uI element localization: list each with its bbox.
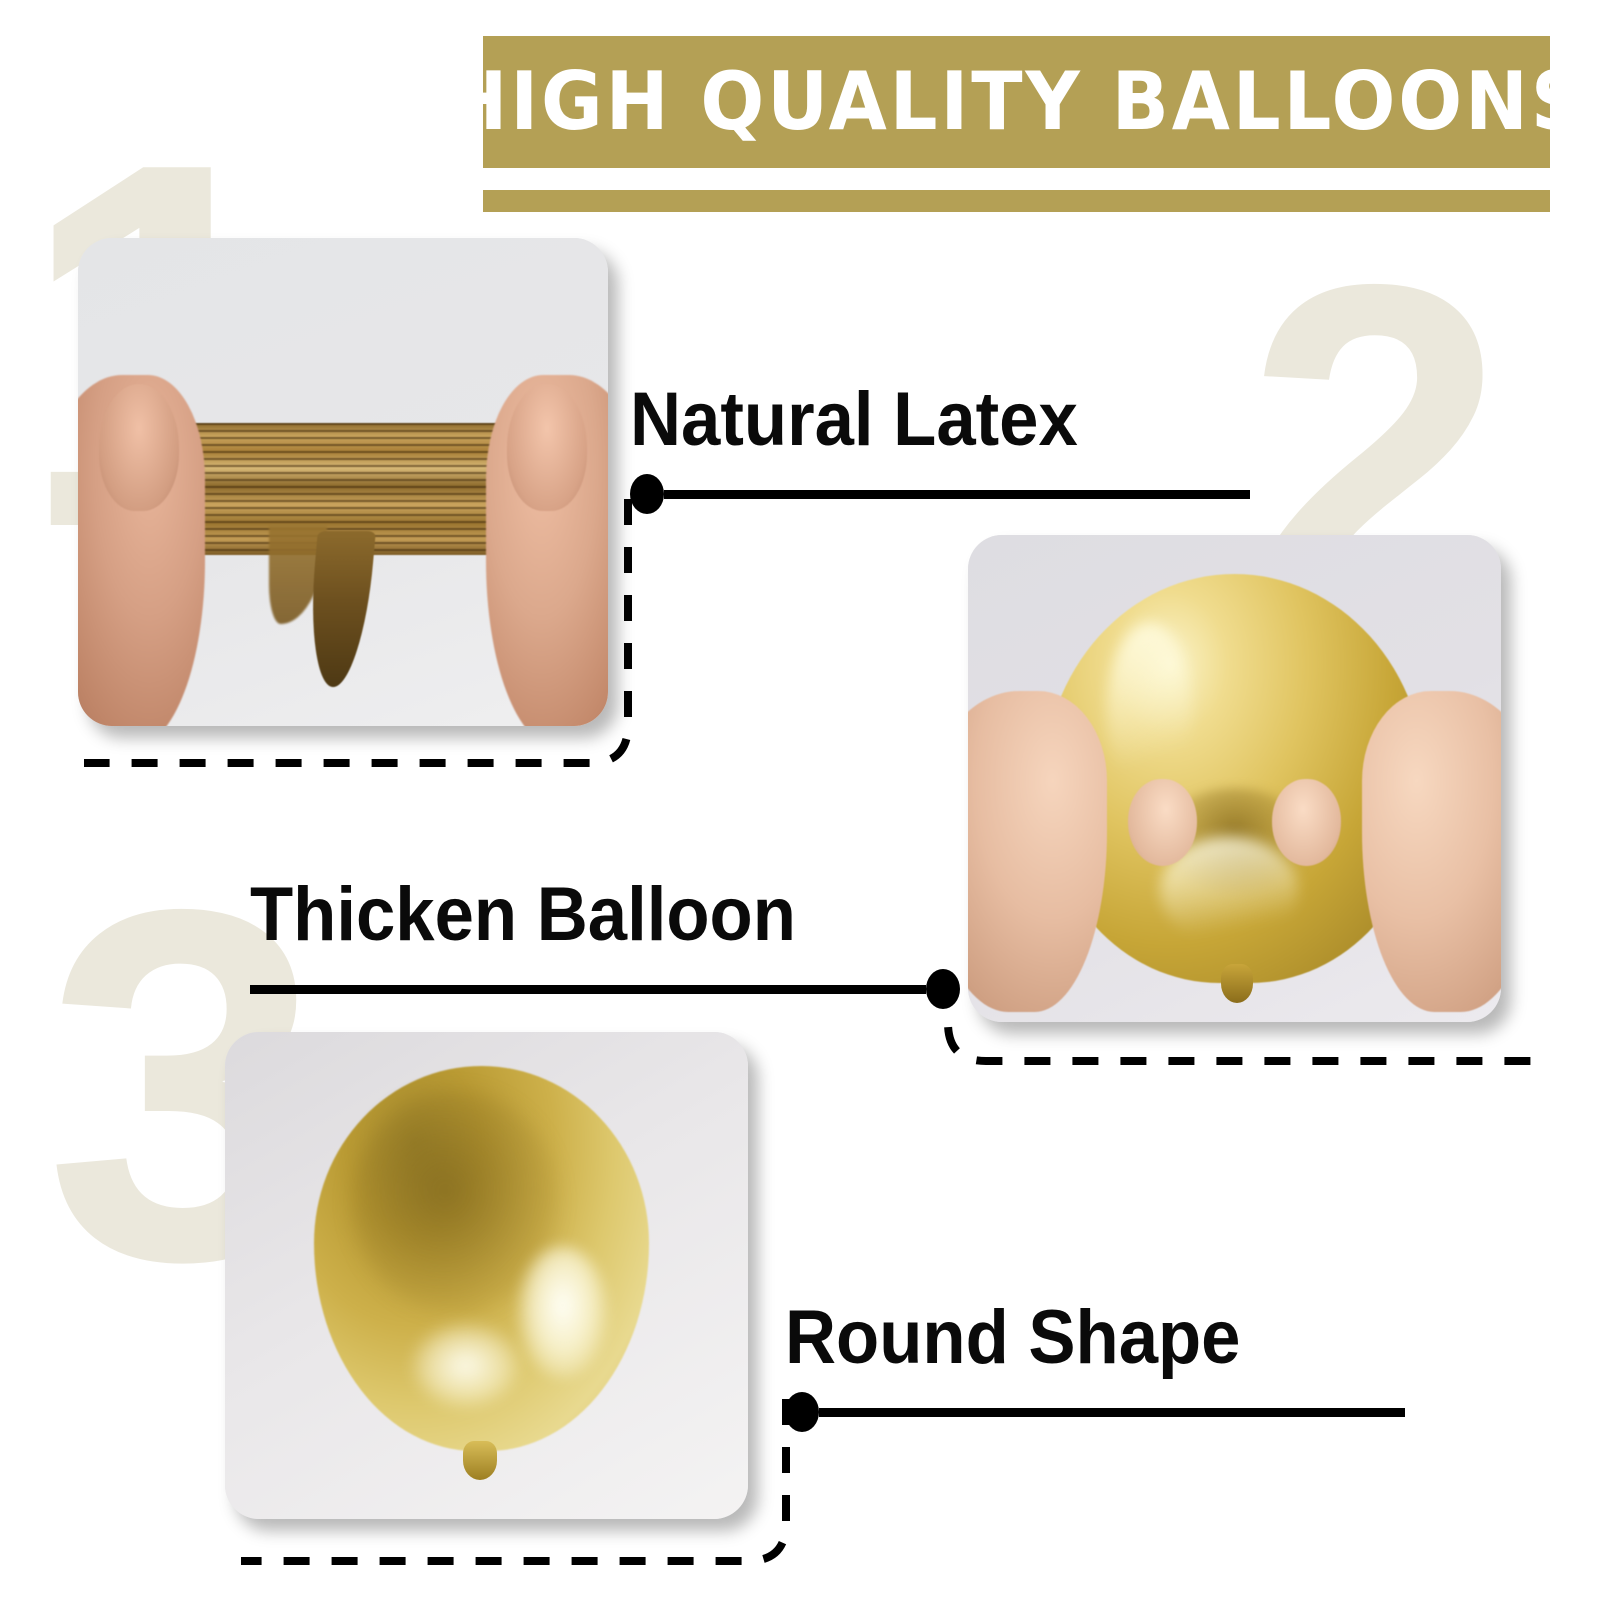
feature-natural-latex-rule [630, 474, 1250, 514]
feature-thicken-balloon-label: Thicken Balloon [250, 877, 910, 953]
connector-dot-icon [926, 969, 960, 1009]
photo-thicken-balloon [968, 535, 1501, 1022]
photo-thicken-balloon-content [968, 535, 1501, 1022]
feature-round-shape-rule [785, 1392, 1405, 1432]
right-thumb [507, 384, 587, 511]
connector-path [84, 499, 628, 763]
connector-natural-latex [80, 495, 650, 785]
connector-dot-icon [630, 474, 664, 514]
feature-natural-latex-label: Natural Latex [630, 382, 1207, 458]
feature-round-shape-label: Round Shape [785, 1300, 1362, 1376]
feature-thicken-balloon: Thicken Balloon [250, 877, 960, 1009]
banner-title: HIGH QUALITY BALLOONS [445, 62, 1588, 142]
right-fingers [1272, 779, 1341, 867]
header-banner: HIGH QUALITY BALLOONS [483, 36, 1550, 212]
banner-accent-strip [483, 190, 1550, 212]
connector-path [241, 1399, 786, 1561]
rule-line [250, 985, 926, 994]
connector-thicken-balloon [938, 975, 1558, 1085]
feature-thicken-balloon-rule [250, 969, 960, 1009]
feature-natural-latex: Natural Latex [630, 382, 1250, 514]
connector-round-shape [235, 1395, 805, 1575]
balloon-highlight-main [518, 1246, 607, 1377]
connector-path [948, 979, 1550, 1061]
infographic-canvas: 1 2 3 HIGH QUALITY BALLOONS [0, 0, 1600, 1600]
connector-dot-icon [785, 1392, 819, 1432]
left-thumb [99, 384, 179, 511]
banner-gold-bar: HIGH QUALITY BALLOONS [483, 36, 1550, 168]
balloon-highlight-upper [1107, 623, 1192, 798]
rule-line [664, 490, 1250, 499]
feature-round-shape: Round Shape [785, 1300, 1405, 1432]
left-fingers [1128, 779, 1197, 867]
rule-line [819, 1408, 1405, 1417]
